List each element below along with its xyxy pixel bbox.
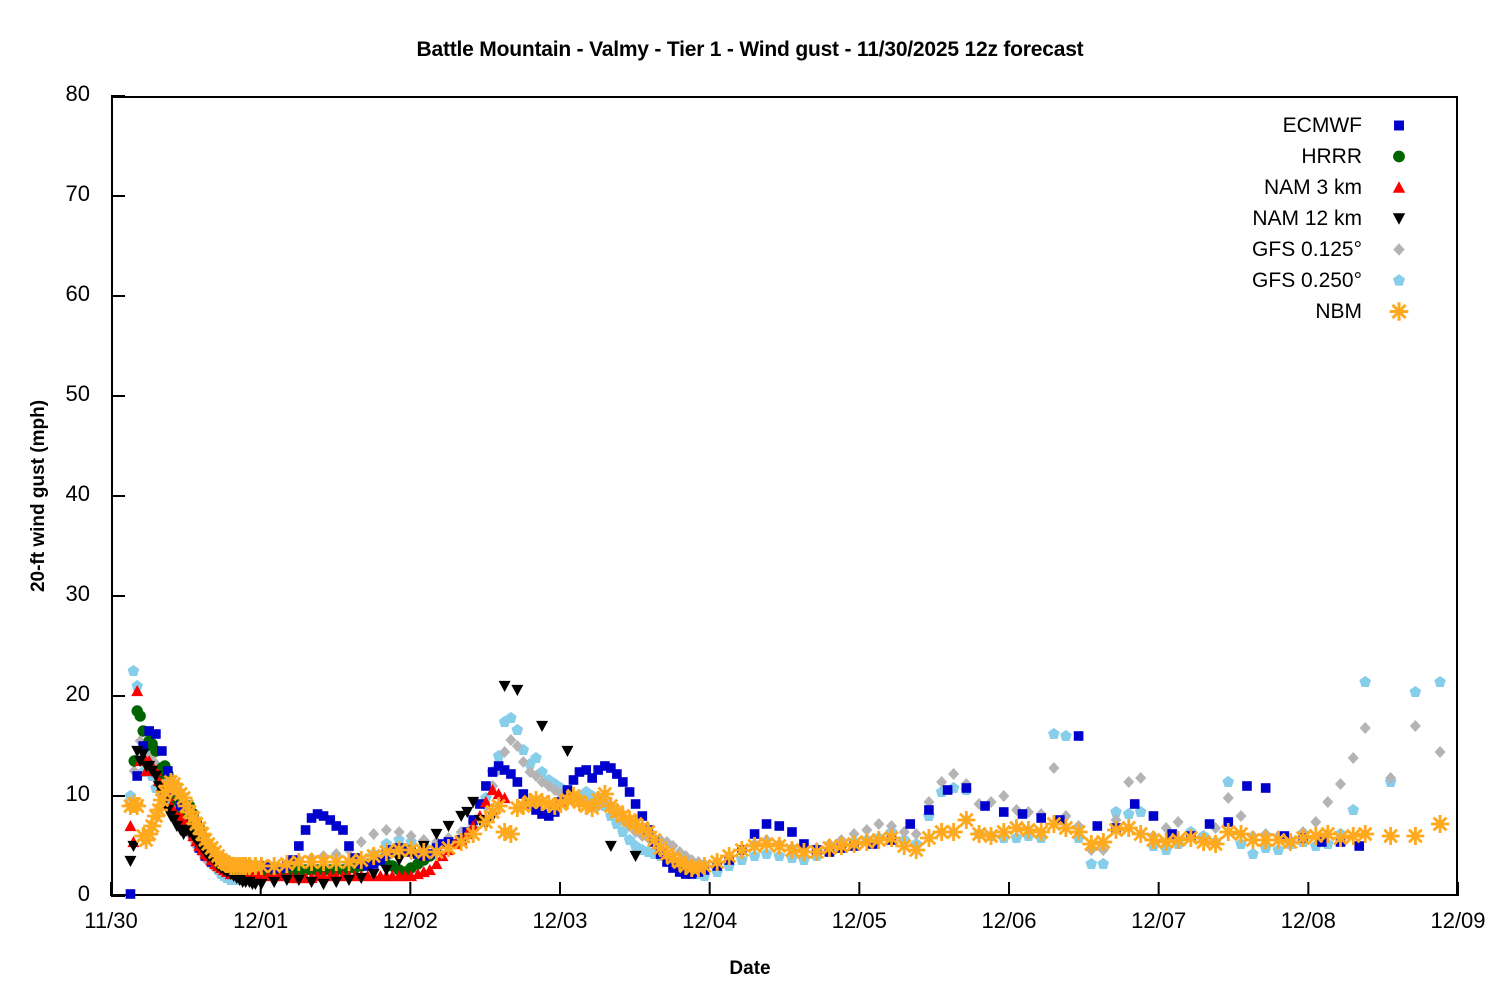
x-tick-label: 12/08: [1238, 908, 1378, 934]
legend-label: ECMWF: [1283, 114, 1362, 138]
legend-label: NBM: [1315, 300, 1362, 324]
x-axis-label: Date: [0, 958, 1500, 980]
y-tick-label: 40: [0, 481, 90, 507]
x-tick-label: 12/02: [340, 908, 480, 934]
legend-label: GFS 0.250°: [1252, 269, 1362, 293]
y-tick-label: 50: [0, 381, 90, 407]
legend-item-nam-12-km[interactable]: NAM 12 km: [1140, 203, 1410, 234]
triangle-up-marker-icon: [1388, 172, 1410, 203]
legend-item-hrrr[interactable]: HRRR: [1140, 141, 1410, 172]
asterisk-marker-icon: [1388, 296, 1410, 327]
y-tick-label: 10: [0, 781, 90, 807]
y-tick-label: 70: [0, 181, 90, 207]
x-tick-label: 12/04: [640, 908, 780, 934]
diamond-marker-icon: [1388, 234, 1410, 265]
y-tick-label: 0: [0, 881, 90, 907]
legend-item-gfs-0-250[interactable]: GFS 0.250°: [1140, 265, 1410, 296]
circle-marker-icon: [1388, 141, 1410, 172]
x-tick-label: 12/06: [939, 908, 1079, 934]
x-tick-label: 12/01: [191, 908, 331, 934]
legend-label: NAM 3 km: [1264, 176, 1362, 200]
legend-label: HRRR: [1301, 145, 1362, 169]
legend-item-nbm[interactable]: NBM: [1140, 296, 1410, 327]
y-tick-label: 30: [0, 581, 90, 607]
square-marker-icon: [1388, 110, 1410, 141]
legend-item-nam-3-km[interactable]: NAM 3 km: [1140, 172, 1410, 203]
wind-gust-forecast-chart: Battle Mountain - Valmy - Tier 1 - Wind …: [0, 0, 1500, 1000]
y-tick-label: 80: [0, 81, 90, 107]
chart-legend: ECMWFHRRRNAM 3 kmNAM 12 kmGFS 0.125°GFS …: [1140, 110, 1410, 327]
x-tick-label: 12/05: [789, 908, 929, 934]
data-points: [121, 665, 1449, 899]
pentagon-marker-icon: [1388, 265, 1410, 296]
triangle-down-marker-icon: [1388, 203, 1410, 234]
legend-item-ecmwf[interactable]: ECMWF: [1140, 110, 1410, 141]
y-tick-label: 20: [0, 681, 90, 707]
x-tick-label: 12/03: [490, 908, 630, 934]
x-tick-label: 12/09: [1388, 908, 1500, 934]
legend-item-gfs-0-125[interactable]: GFS 0.125°: [1140, 234, 1410, 265]
legend-label: GFS 0.125°: [1252, 238, 1362, 262]
x-tick-label: 12/07: [1089, 908, 1229, 934]
x-tick-label: 11/30: [41, 908, 181, 934]
legend-label: NAM 12 km: [1252, 207, 1362, 231]
y-tick-label: 60: [0, 281, 90, 307]
